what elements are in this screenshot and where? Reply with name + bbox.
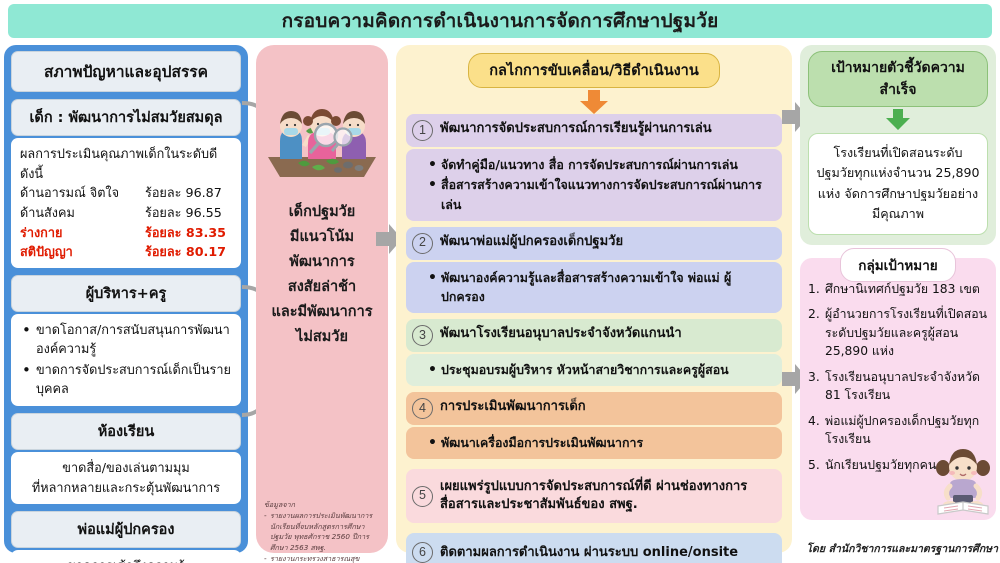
mechanism-panel: กลไกการขับเคลื่อน/วิธีดำเนินงาน 1 พัฒนาก… [396,45,792,553]
step-header: 3 พัฒนาโรงเรียนอนุบาลประจำจังหวัดแกนนำ [406,319,782,352]
list-item-text: ผู้อำนวยการโรงเรียนที่เปิดสอนระดับปฐมวัย… [825,307,987,358]
list-item-number: 2. [808,305,820,323]
stat-row: ด้านอารมณ์ จิตใจ ร้อยละ 96.87 [20,183,232,203]
infographic-root: กรอบความคิดการดำเนินงานการจัดการศึกษาปฐม… [0,0,1000,563]
step-header: 5 เผยแพร่รูปแบบการจัดประสบการณ์ที่ดี ผ่า… [406,469,782,523]
goal-panel: เป้าหมายตัวชี้วัดความสำเร็จ โรงเรียนที่เ… [800,45,996,245]
step-bullets: ประชุมอบรมผู้บริหาร หัวหน้าสายวิชาการและ… [406,354,782,386]
summary-text: เด็กปฐมวัย มีแนวโน้ม พัฒนาการ สงสัยล่าช้… [260,200,384,350]
step-bullets: พัฒนาเครื่องมือการประเมินพัฒนาการ [406,427,782,459]
mechanism-header: กลไกการขับเคลื่อน/วิธีดำเนินงาน [468,53,720,88]
problem-card-classroom-title: ห้องเรียน [11,413,241,450]
stat-row: ร่างกาย ร้อยละ 83.35 [20,223,232,243]
list-item: ขาดโอกาส/การสนับสนุนการพัฒนาองค์ความรู้ [20,320,232,358]
list-item: 1. ศึกษานิเทศก์ปฐมวัย 183 เขต [808,280,988,298]
list-item: รายงานผลการประเมินพัฒนาการนักเรียนที่จบห… [264,511,384,553]
problem-card-children: เด็ก : พัฒนาการไม่สมวัยสมดุล ผลการประเมิ… [11,99,241,268]
classroom-text: ขาดสื่อ/ของเล่นตามมุม ที่หลากหลายและกระต… [20,458,232,497]
step-title: พัฒนาการจัดประสบการณ์การเรียนรู้ผ่านการเ… [440,120,712,138]
goal-header: เป้าหมายตัวชี้วัดความสำเร็จ [808,51,988,107]
list-item-text: พ่อแม่ผู้ปกครองเด็กปฐมวัยทุกโรงเรียน [825,414,979,446]
step-number: 3 [412,325,433,346]
stat-label: ด้านสังคม [20,203,145,223]
page-title-bar: กรอบความคิดการดำเนินงานการจัดการศึกษาปฐม… [8,4,992,38]
problem-card-parents-title: พ่อแม่ผู้ปกครอง [11,511,241,548]
target-group-list: 1. ศึกษานิเทศก์ปฐมวัย 183 เขต 2. ผู้อำนว… [808,280,988,474]
footnote-list: รายงานผลการประเมินพัฒนาการนักเรียนที่จบห… [264,511,384,563]
list-item-number: 1. [808,280,820,298]
problem-card-staff: ผู้บริหาร+ครู ขาดโอกาส/การสนับสนุนการพัฒ… [11,275,241,406]
problem-card-children-body: ผลการประเมินคุณภาพเด็กในระดับดี ดังนี้ ด… [11,138,241,268]
stat-label: สติปัญญา [20,242,145,262]
footnote-heading: ข้อมูลจาก [264,500,384,510]
stat-value: ร้อยละ 96.87 [145,183,232,203]
step-number: 1 [412,120,433,141]
page-title: กรอบความคิดการดำเนินงานการจัดการศึกษาปฐม… [282,6,719,36]
step-title: พัฒนาโรงเรียนอนุบาลประจำจังหวัดแกนนำ [440,325,682,343]
list-item-number: 4. [808,412,820,430]
step-bullets: จัดทำคู่มือ/แนวทาง สื่อ การจัดประสบการณ์… [406,149,782,221]
mechanism-step-6: 6 ติดตามผลการดำเนินงาน ผ่านระบบ online/o… [406,533,782,563]
down-arrow-wrap [406,90,782,114]
target-group-header: กลุ่มเป้าหมาย [840,248,956,282]
problem-card-parents: พ่อแม่ผู้ปกครอง ขาดการเข้าถึงความรู้ และ… [11,511,241,563]
step-title: ติดตามผลการดำเนินงาน ผ่านระบบ online/ons… [440,544,738,562]
list-item-text: นักเรียนปฐมวัยทุกคน [825,458,936,472]
stat-label: ร่างกาย [20,223,145,243]
problem-card-staff-body: ขาดโอกาส/การสนับสนุนการพัฒนาองค์ความรู้ … [11,314,241,406]
step-number: 5 [412,486,433,507]
stat-value: ร้อยละ 83.35 [145,223,232,243]
goal-text: โรงเรียนที่เปิดสอนระดับปฐมวัยทุกแห่งจำนว… [808,133,988,235]
arrow-down-icon [579,90,609,114]
mechanism-step-4: 4 การประเมินพัฒนาการเด็ก พัฒนาเครื่องมือ… [406,392,782,459]
problem-card-children-title: เด็ก : พัฒนาการไม่สมวัยสมดุล [11,99,241,136]
children-illustration [264,97,380,181]
stat-row: สติปัญญา ร้อยละ 80.17 [20,242,232,262]
list-item: สื่อสารสร้างความเข้าใจแนวทางการจัดประสบก… [428,175,772,215]
step-title: พัฒนาพ่อแม่ผู้ปกครองเด็กปฐมวัย [440,233,623,251]
list-item: 3. โรงเรียนอนุบาลประจำจังหวัด 81 โรงเรีย… [808,368,988,405]
parents-text: ขาดการเข้าถึงความรู้ และส่วนร่วมกับสถานศ… [20,556,232,563]
stats-intro: ผลการประเมินคุณภาพเด็กในระดับดี ดังนี้ [20,144,232,183]
list-item: รายงานกระทรวงสาธารณสุข ระบบHDC ปี 2563 [264,554,384,563]
girl-reading-illustration [932,448,994,516]
summary-panel: เด็กปฐมวัย มีแนวโน้ม พัฒนาการ สงสัยล่าช้… [256,45,388,553]
list-item: 4. พ่อแม่ผู้ปกครองเด็กปฐมวัยทุกโรงเรียน [808,412,988,449]
stat-value: ร้อยละ 96.55 [145,203,232,223]
list-item: 2. ผู้อำนวยการโรงเรียนที่เปิดสอนระดับปฐม… [808,305,988,360]
problem-card-classroom: ห้องเรียน ขาดสื่อ/ของเล่นตามมุม ที่หลากห… [11,413,241,503]
list-item: จัดทำคู่มือ/แนวทาง สื่อ การจัดประสบการณ์… [428,155,772,175]
mechanism-step-5: 5 เผยแพร่รูปแบบการจัดประสบการณ์ที่ดี ผ่า… [406,469,782,523]
step-title: การประเมินพัฒนาการเด็ก [440,398,586,416]
step-header: 6 ติดตามผลการดำเนินงาน ผ่านระบบ online/o… [406,533,782,563]
stat-value: ร้อยละ 80.17 [145,242,232,262]
list-item: พัฒนาเครื่องมือการประเมินพัฒนาการ [428,433,772,453]
mechanism-step-3: 3 พัฒนาโรงเรียนอนุบาลประจำจังหวัดแกนนำ ป… [406,319,782,386]
list-item-number: 3. [808,368,820,386]
stat-row: ด้านสังคม ร้อยละ 96.55 [20,203,232,223]
stat-label: ด้านอารมณ์ จิตใจ [20,183,145,203]
arrow-down-icon [885,109,911,130]
list-item: พัฒนาองค์ความรู้และสื่อสารสร้างความเข้าใ… [428,268,772,308]
staff-bullet-list: ขาดโอกาส/การสนับสนุนการพัฒนาองค์ความรู้ … [20,320,232,398]
step-title: เผยแพร่รูปแบบการจัดประสบการณ์ที่ดี ผ่านช… [440,478,774,514]
problems-panel: สภาพปัญหาและอุปสรรค เด็ก : พัฒนาการไม่สม… [4,45,248,553]
problems-header-card: สภาพปัญหาและอุปสรรค [11,51,241,92]
problem-card-classroom-body: ขาดสื่อ/ของเล่นตามมุม ที่หลากหลายและกระต… [11,452,241,503]
list-item-text: โรงเรียนอนุบาลประจำจังหวัด 81 โรงเรียน [825,370,980,402]
step-bullets: พัฒนาองค์ความรู้และสื่อสารสร้างความเข้าใ… [406,262,782,314]
list-item: ประชุมอบรมผู้บริหาร หัวหน้าสายวิชาการและ… [428,360,772,380]
problems-header: สภาพปัญหาและอุปสรรค [11,51,241,92]
step-header: 4 การประเมินพัฒนาการเด็ก [406,392,782,425]
list-item-number: 5. [808,456,820,474]
step-header: 2 พัฒนาพ่อแม่ผู้ปกครองเด็กปฐมวัย [406,227,782,260]
step-number: 2 [412,233,433,254]
data-source-footnote: ข้อมูลจาก รายงานผลการประเมินพัฒนาการนักเ… [264,500,384,563]
target-group-panel: กลุ่มเป้าหมาย 1. ศึกษานิเทศก์ปฐมวัย 183 … [800,258,996,520]
step-header: 1 พัฒนาการจัดประสบการณ์การเรียนรู้ผ่านกา… [406,114,782,147]
step-number: 4 [412,398,433,419]
credit-text: โดย สำนักวิชาการและมาตรฐานการศึกษา [800,540,998,557]
step-number: 6 [412,542,433,563]
problem-card-parents-body: ขาดการเข้าถึงความรู้ และส่วนร่วมกับสถานศ… [11,550,241,563]
list-item-text: ศึกษานิเทศก์ปฐมวัย 183 เขต [825,282,980,296]
mechanism-step-1: 1 พัฒนาการจัดประสบการณ์การเรียนรู้ผ่านกา… [406,114,782,221]
mechanism-step-2: 2 พัฒนาพ่อแม่ผู้ปกครองเด็กปฐมวัย พัฒนาอง… [406,227,782,314]
goal-arrow-wrap [808,107,988,131]
list-item: ขาดการจัดประสบการณ์เด็กเป็นรายบุคคล [20,360,232,398]
problem-card-staff-title: ผู้บริหาร+ครู [11,275,241,312]
